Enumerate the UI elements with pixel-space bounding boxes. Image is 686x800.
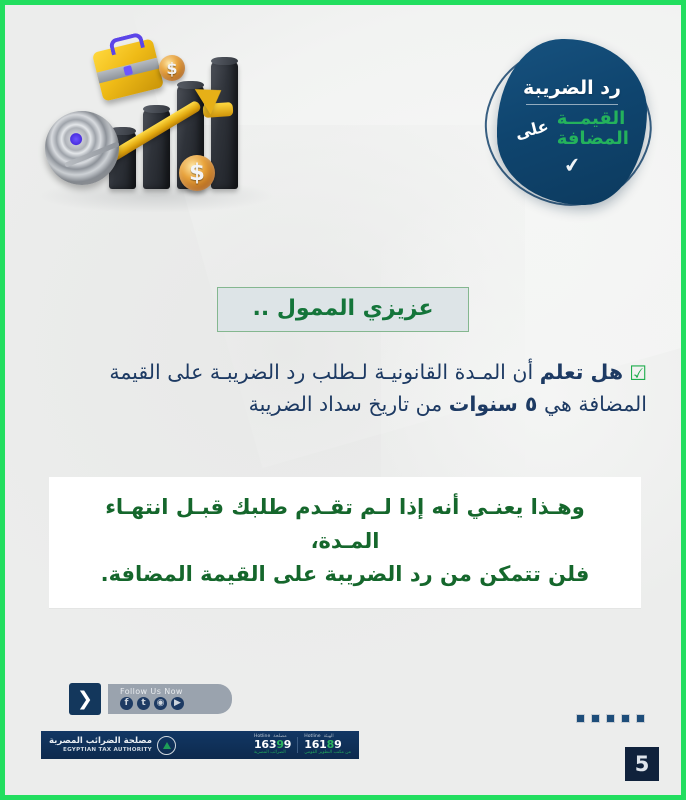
twitter-icon[interactable]: t (137, 697, 150, 710)
hotline-subcaption: من مكتب التطوير القومي (304, 751, 351, 756)
eta-logo-icon (157, 736, 176, 755)
chevron-right-icon[interactable]: ❯ (69, 683, 101, 715)
hotline-16395: مصلحة Hotline 16399 الضرائب المصرية (254, 734, 291, 756)
did-you-know-line1: أن المـدة القانونيـة لـطلب رد الضريبـة ع… (167, 360, 533, 384)
social-panel[interactable]: Follow Us Now f t ◉ ▶ (108, 684, 232, 714)
authority-footer-bar: مصلحة الضرائب المصرية EGYPTIAN TAX AUTHO… (41, 731, 359, 759)
youtube-icon[interactable]: ▶ (171, 697, 184, 710)
hotline-group: مصلحة Hotline 16399 الضرائب المصرية الهي… (254, 734, 351, 756)
follow-us-bar[interactable]: ❯ Follow Us Now f t ◉ ▶ (69, 683, 232, 715)
warning-line-2: فلن تتمكن من رد الضريبة على القيمة المضا… (71, 558, 619, 592)
decorative-dots (576, 714, 645, 723)
badge-divider (526, 104, 618, 105)
did-you-know-emphasis: ٥ سنوات (449, 392, 538, 416)
follow-us-label: Follow Us Now (120, 687, 183, 696)
dot (591, 714, 600, 723)
checkbox-check-icon: ☑ (629, 358, 647, 389)
badge-shape: رد الضريبة القيمــة المضافة على ✔ (497, 39, 647, 205)
dollar-coin-icon: $ (179, 155, 215, 191)
authority-brand: مصلحة الضرائب المصرية EGYPTIAN TAX AUTHO… (49, 736, 176, 755)
hotline-16189: الهيئة Hotline 16189 من مكتب التطوير الق… (304, 734, 351, 756)
greeting-chip: عزيزي الممول .. (217, 287, 468, 332)
authority-name-ar: مصلحة الضرائب المصرية (49, 737, 152, 747)
warning-line-1: وهـذا يعنـي أنه إذا لـم تقـدم طلبك قبـل … (71, 491, 619, 558)
warning-card: وهـذا يعنـي أنه إذا لـم تقـدم طلبك قبـل … (49, 477, 641, 608)
dot (636, 714, 645, 723)
badge-on-word: على (513, 116, 550, 143)
hotline-subcaption: الضرائب المصرية (254, 751, 286, 756)
dot (621, 714, 630, 723)
did-you-know-block: ☑هل تعلم أن المـدة القانونيـة لـطلب رد ا… (39, 357, 647, 421)
instagram-icon[interactable]: ◉ (154, 697, 167, 710)
greeting-row: عزيزي الممول .. (5, 287, 681, 332)
footer-divider (297, 737, 298, 753)
dot (576, 714, 585, 723)
infographic-poster: $ $ رد الضريبة القيمــة المضافة على ✔ عز… (0, 0, 686, 800)
check-icon: ✔ (562, 154, 581, 176)
badge-title: رد الضريبة (523, 77, 621, 99)
badge-vat-line2: المضافة (557, 129, 629, 149)
facebook-icon[interactable]: f (120, 697, 133, 710)
vat-refund-badge: رد الضريبة القيمــة المضافة على ✔ (483, 33, 659, 215)
social-row[interactable]: f t ◉ ▶ (120, 697, 184, 710)
page-number-badge: 5 (625, 747, 659, 781)
badge-vat-label: القيمــة المضافة (557, 109, 629, 149)
did-you-know-line2b: من تاريخ سداد الضريبة (249, 392, 443, 416)
dollar-coin-icon: $ (159, 55, 185, 81)
badge-vat-line1: القيمــة (557, 109, 626, 129)
business-growth-illustration: $ $ (31, 29, 281, 219)
dot (606, 714, 615, 723)
did-you-know-lead: هل تعلم (540, 360, 623, 384)
authority-name-en: EGYPTIAN TAX AUTHORITY (49, 747, 152, 753)
briefcase-icon (92, 38, 164, 102)
